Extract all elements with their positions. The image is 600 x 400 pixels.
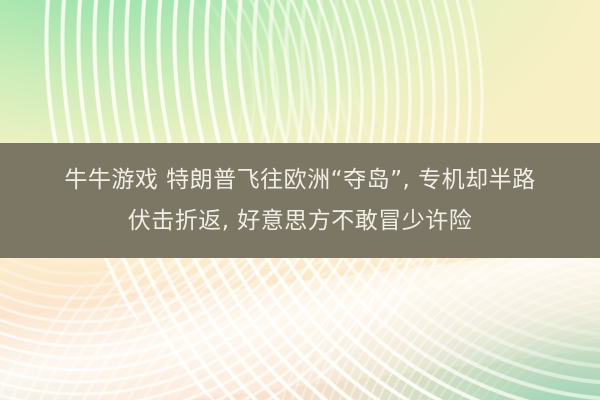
poster-image: 牛牛游戏 特朗普飞往欧洲“夺岛”, 专机却半路 伏击折返, 好意思方不敢冒少许险 xyxy=(0,0,600,400)
headline-line-1: 牛牛游戏 特朗普飞往欧洲“夺岛”, 专机却半路 xyxy=(64,160,535,201)
headline-band: 牛牛游戏 特朗普飞往欧洲“夺岛”, 专机却半路 伏击折返, 好意思方不敢冒少许险 xyxy=(0,143,600,258)
headline-line-2: 伏击折返, 好意思方不敢冒少许险 xyxy=(128,201,473,242)
